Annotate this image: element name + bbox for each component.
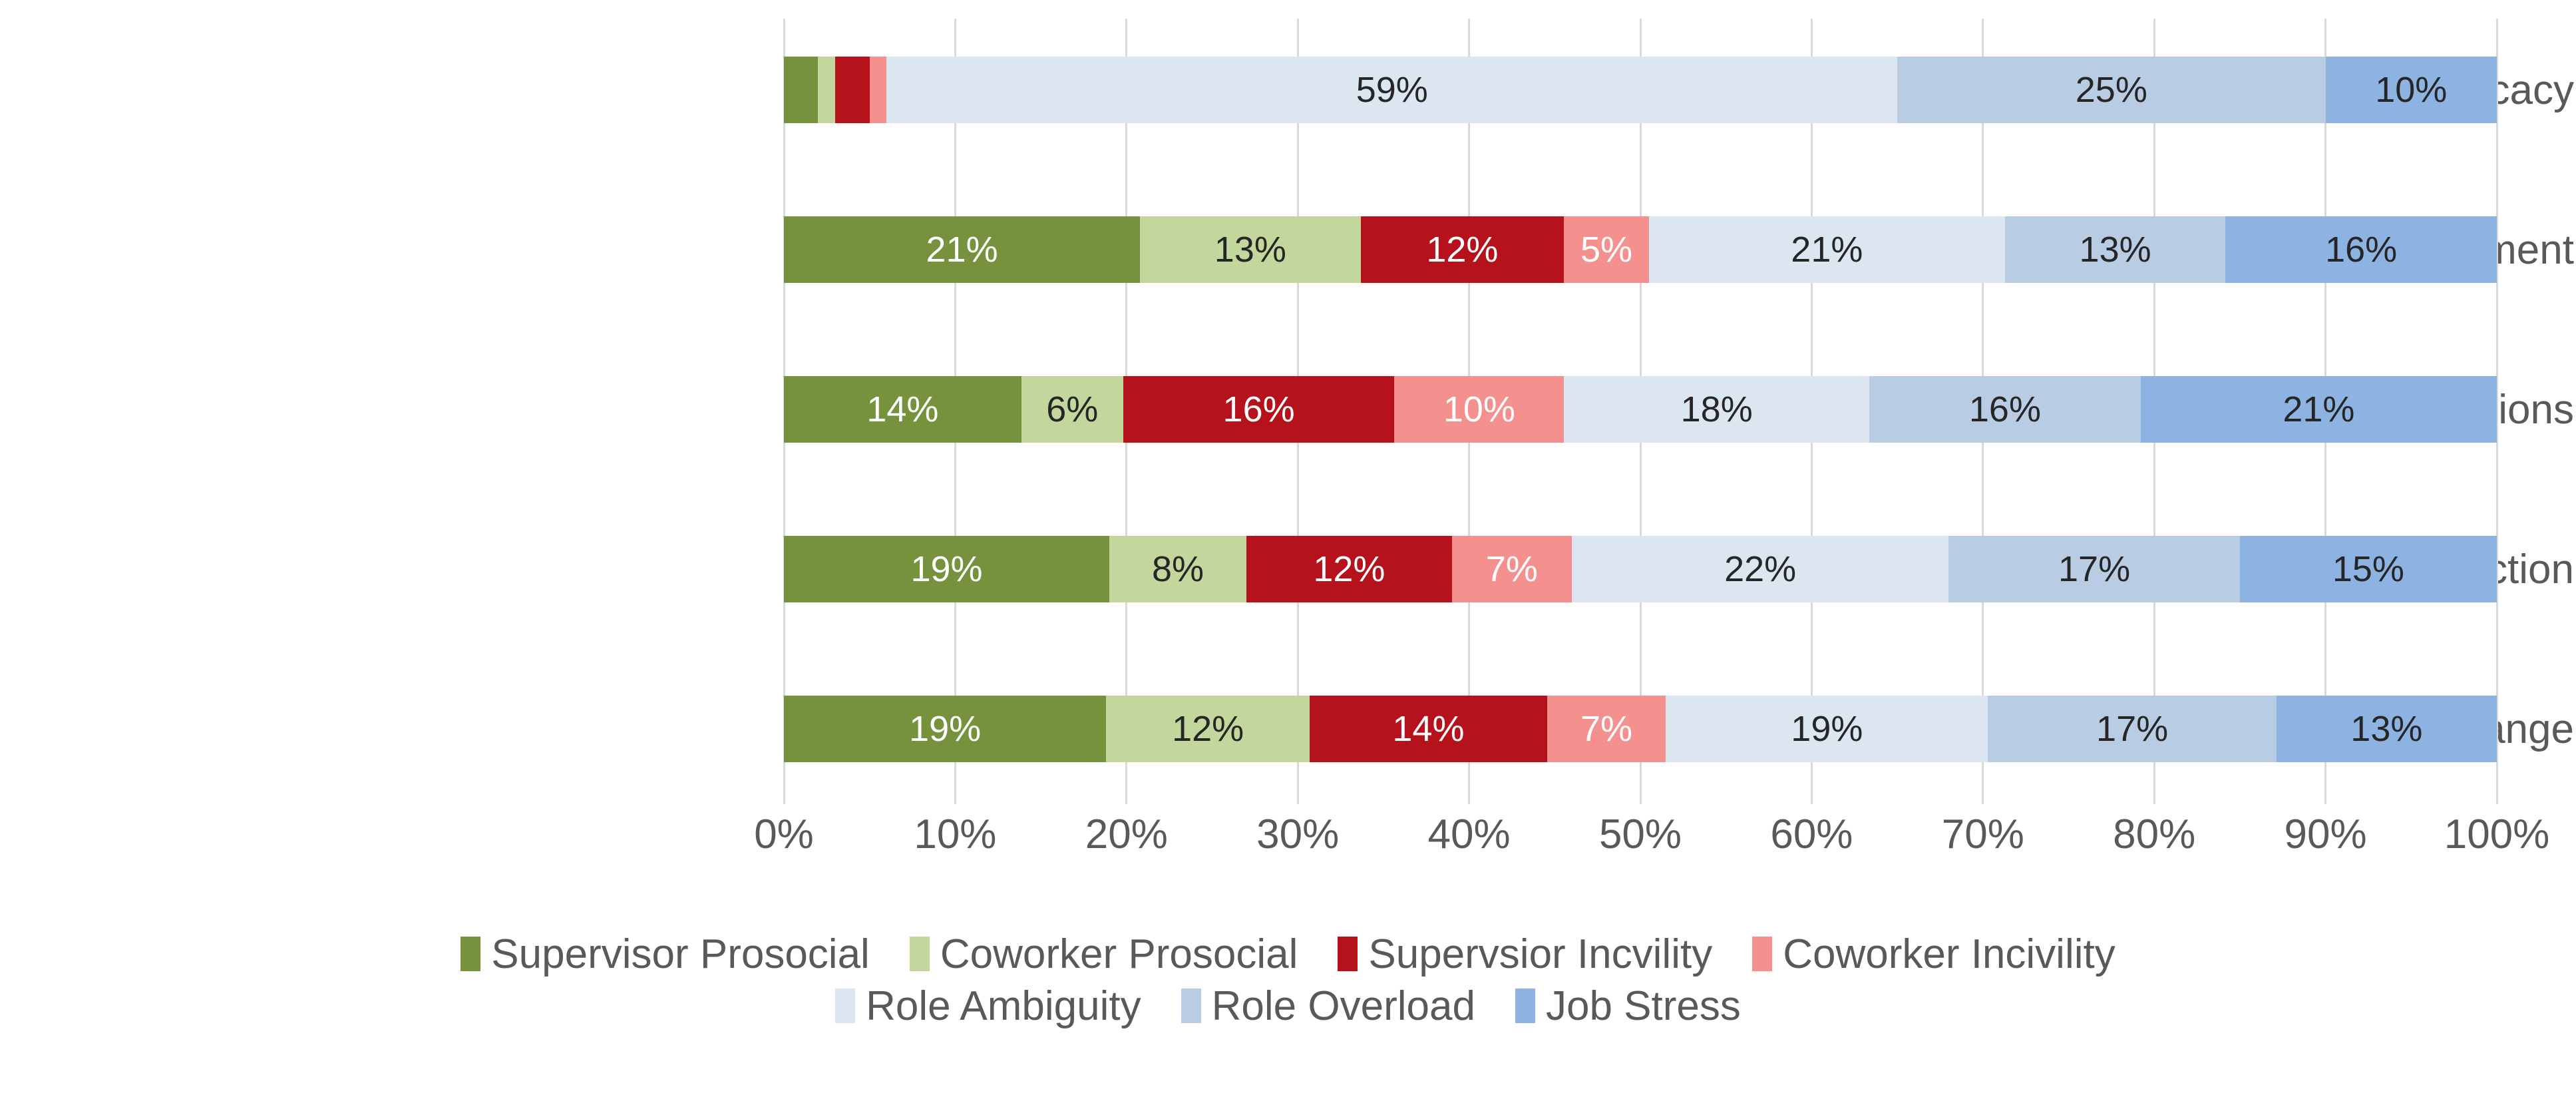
bar-segment-value: 10% xyxy=(2375,72,2447,108)
legend-swatch-icon xyxy=(835,989,855,1023)
bar-segment: 17% xyxy=(1988,696,2276,762)
bar-segment-value: 21% xyxy=(1791,232,1863,268)
bar-segment: 21% xyxy=(1649,216,2005,283)
bar-segment: 7% xyxy=(1452,536,1572,602)
x-axis-tick-label: 10% xyxy=(914,811,996,858)
plot-area: 59%25%10%21%13%12%5%21%13%16%14%6%16%10%… xyxy=(784,0,2497,799)
bar-segment-value: 17% xyxy=(2058,551,2130,587)
bar-segment: 22% xyxy=(1572,536,1948,602)
bar-segment: 12% xyxy=(1246,536,1452,602)
legend-swatch-icon xyxy=(1338,937,1358,971)
bar-segment: 10% xyxy=(1394,376,1564,443)
bar-segment: 13% xyxy=(1140,216,1360,283)
bar-segment-value: 19% xyxy=(909,711,981,747)
bar-segment: 17% xyxy=(1948,536,2240,602)
legend-item[interactable]: Supervisor Prosocial xyxy=(460,931,870,978)
bar-segment: 59% xyxy=(886,57,1897,123)
legend-swatch-icon xyxy=(1181,989,1201,1023)
bar-segment-value: 16% xyxy=(1223,391,1295,427)
legend-swatch-icon xyxy=(1752,937,1772,971)
bar-row: 21%13%12%5%21%13%16% xyxy=(784,216,2497,283)
bar-segment: 21% xyxy=(784,216,1140,283)
legend-swatch-icon xyxy=(1515,989,1535,1023)
x-axis-tick-label: 40% xyxy=(1428,811,1511,858)
bar-segment-value: 12% xyxy=(1426,232,1498,268)
legend-label: Supervisor Prosocial xyxy=(491,931,870,978)
bar-segment: 5% xyxy=(1564,216,1648,283)
bar-segment: 10% xyxy=(2326,57,2497,123)
bar-segment-value: 12% xyxy=(1172,711,1244,747)
bar-segment-value: 6% xyxy=(1046,391,1098,427)
bar-segment: 6% xyxy=(1021,376,1123,443)
x-axis-tick-label: 70% xyxy=(1942,811,2024,858)
bar-segment: 14% xyxy=(784,376,1021,443)
bar-segment: 19% xyxy=(784,696,1106,762)
legend-row: Role AmbiguityRole OverloadJob Stress xyxy=(0,984,2576,1028)
legend-label: Supervsior Incvility xyxy=(1368,931,1712,978)
bar-segment: 19% xyxy=(784,536,1109,602)
legend-row: Supervisor ProsocialCoworker ProsocialSu… xyxy=(0,932,2576,976)
bar-segment: 12% xyxy=(1361,216,1564,283)
legend-item[interactable]: Role Overload xyxy=(1181,983,1475,1030)
bar-segment xyxy=(870,57,887,123)
x-axis-tick-label: 30% xyxy=(1256,811,1339,858)
x-axis-tick-label: 80% xyxy=(2113,811,2195,858)
bar-segment-value: 59% xyxy=(1356,72,1428,108)
legend-item[interactable]: Job Stress xyxy=(1515,983,1741,1030)
x-axis-tick-label: 100% xyxy=(2444,811,2550,858)
bar-segment-value: 21% xyxy=(2283,391,2354,427)
bar-segment: 16% xyxy=(1123,376,1395,443)
bar-segment: 25% xyxy=(1897,57,2326,123)
bar-segment-value: 7% xyxy=(1580,711,1632,747)
bar-segment-value: 21% xyxy=(926,232,998,268)
legend-item[interactable]: Coworker Prosocial xyxy=(910,931,1298,978)
legend-item[interactable]: Coworker Incivility xyxy=(1752,931,2116,978)
bar-segment-value: 12% xyxy=(1313,551,1385,587)
x-axis-tick-label: 50% xyxy=(1599,811,1682,858)
bar-segment: 18% xyxy=(1564,376,1869,443)
legend-label: Coworker Incivility xyxy=(1783,931,2116,978)
legend-label: Coworker Prosocial xyxy=(940,931,1298,978)
bar-segment: 15% xyxy=(2240,536,2497,602)
bar-segment-value: 8% xyxy=(1152,551,1204,587)
legend-label: Role Ambiguity xyxy=(866,983,1141,1030)
x-axis-tick-label: 60% xyxy=(1770,811,1853,858)
bar-segment-value: 10% xyxy=(1443,391,1515,427)
bar-segment-value: 25% xyxy=(2076,72,2147,108)
bar-segment: 16% xyxy=(1869,376,2141,443)
bar-segment: 16% xyxy=(2225,216,2497,283)
legend-item[interactable]: Supervsior Incvility xyxy=(1338,931,1712,978)
bar-segment-value: 16% xyxy=(1969,391,2041,427)
x-axis-tick-label: 90% xyxy=(2285,811,2367,858)
bar-segment-value: 19% xyxy=(1791,711,1863,747)
bar-segment-value: 16% xyxy=(2325,232,2397,268)
bar-segment: 21% xyxy=(2141,376,2497,443)
bar-segment-value: 5% xyxy=(1580,232,1632,268)
bar-row: 14%6%16%10%18%16%21% xyxy=(784,376,2497,443)
legend-swatch-icon xyxy=(460,937,480,971)
bar-segment: 13% xyxy=(2277,696,2497,762)
bar-segment-value: 13% xyxy=(2350,711,2422,747)
bar-row: 19%8%12%7%22%17%15% xyxy=(784,536,2497,602)
bar-segment xyxy=(784,57,818,123)
bar-segment xyxy=(818,57,835,123)
bar-segment: 8% xyxy=(1109,536,1246,602)
x-axis-tick-label: 20% xyxy=(1085,811,1168,858)
bar-segment-value: 13% xyxy=(2080,232,2151,268)
bar-segment-value: 18% xyxy=(1681,391,1753,427)
bar-row: 59%25%10% xyxy=(784,57,2497,123)
bar-segment-value: 19% xyxy=(910,551,982,587)
x-axis: 0%10%20%30%40%50%60%70%80%90%100% xyxy=(784,799,2497,872)
legend-label: Role Overload xyxy=(1212,983,1475,1030)
x-axis-tick-label: 0% xyxy=(754,811,814,858)
bar-segment-value: 22% xyxy=(1724,551,1796,587)
bar-row: 19%12%14%7%19%17%13% xyxy=(784,696,2497,762)
bar-segment-value: 14% xyxy=(866,391,938,427)
bar-segment: 13% xyxy=(2005,216,2225,283)
chart-legend: Supervisor ProsocialCoworker ProsocialSu… xyxy=(0,932,2576,1036)
bar-segment-value: 7% xyxy=(1486,551,1538,587)
bar-segment: 12% xyxy=(1106,696,1310,762)
bar-segment-value: 14% xyxy=(1392,711,1464,747)
bar-segment-value: 13% xyxy=(1214,232,1286,268)
stacked-bar-chart: Job Self Efficacy Affective Commitment T… xyxy=(0,0,2576,1103)
legend-item[interactable]: Role Ambiguity xyxy=(835,983,1141,1030)
legend-label: Job Stress xyxy=(1546,983,1741,1030)
bar-segment: 7% xyxy=(1547,696,1666,762)
bar-segment xyxy=(835,57,869,123)
bar-segment-value: 17% xyxy=(2096,711,2168,747)
bar-segment: 19% xyxy=(1666,696,1988,762)
legend-swatch-icon xyxy=(910,937,930,971)
bar-segment-value: 15% xyxy=(2332,551,2404,587)
bar-segment: 14% xyxy=(1310,696,1547,762)
